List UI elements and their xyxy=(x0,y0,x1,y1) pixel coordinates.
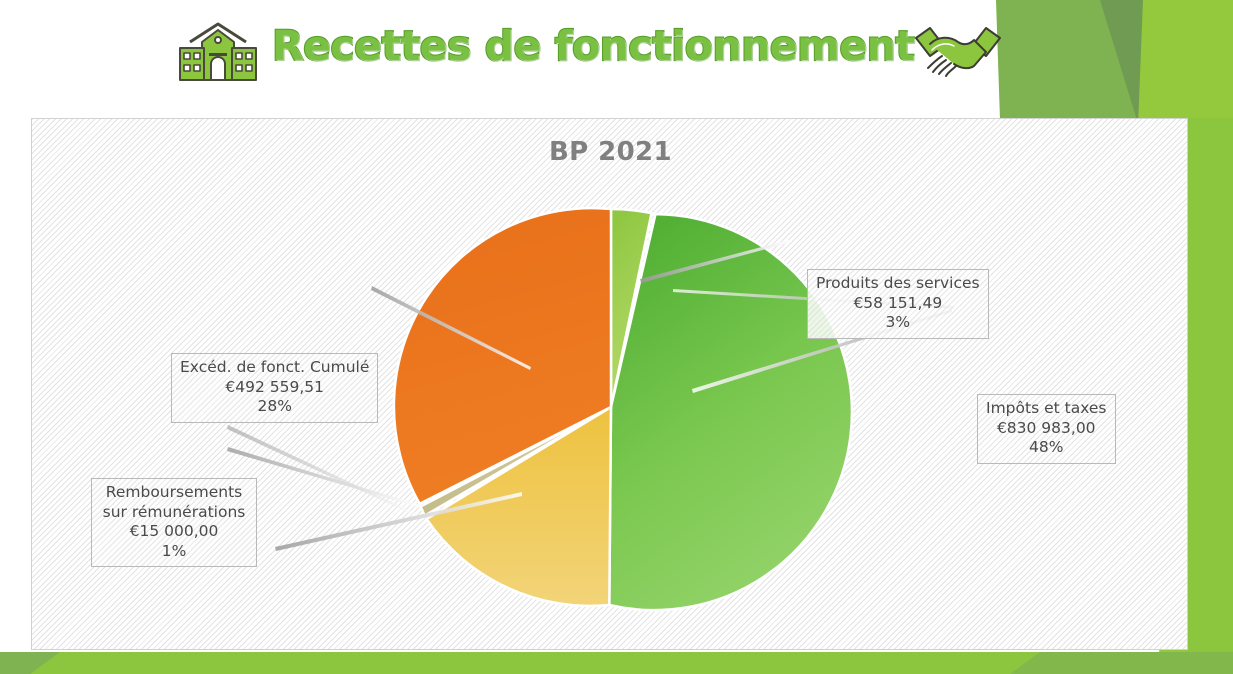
data-label-produits-des-services[interactable]: Produits des services €58 151,49 3% xyxy=(807,269,989,339)
data-label-exced-de-fonct-cumule[interactable]: Excéd. de fonct. Cumulé €492 559,51 28% xyxy=(171,353,378,423)
slide-canvas: Recettes de fonctionnement BP 2021 xyxy=(0,0,1233,674)
data-label-name: Impôts et taxes xyxy=(986,399,1107,419)
handshake-icon xyxy=(912,20,1004,82)
data-label-name: Produits des services xyxy=(816,274,980,294)
data-label-percent: 3% xyxy=(816,313,980,333)
data-label-impots-et-taxes[interactable]: Impôts et taxes €830 983,00 48% xyxy=(977,394,1116,464)
school-icon xyxy=(176,20,260,84)
data-label-percent: 1% xyxy=(100,542,248,562)
page-title: Recettes de fonctionnement xyxy=(272,22,902,70)
data-label-name: Remboursements sur rémunérations xyxy=(100,483,248,522)
slide-header: Recettes de fonctionnement xyxy=(0,0,1233,105)
data-label-value: €15 000,00 xyxy=(100,522,248,542)
data-label-value: €492 559,51 xyxy=(180,378,369,398)
chart-container: BP 2021 xyxy=(31,118,1188,650)
data-label-remboursements-sur-remunerations[interactable]: Remboursements sur rémunérations €15 000… xyxy=(91,478,257,567)
data-label-value: €58 151,49 xyxy=(816,294,980,314)
data-label-percent: 48% xyxy=(986,438,1107,458)
data-label-name: Excéd. de fonct. Cumulé xyxy=(180,358,369,378)
data-label-percent: 28% xyxy=(180,397,369,417)
data-label-value: €830 983,00 xyxy=(986,419,1107,439)
pie-slices xyxy=(394,208,852,610)
